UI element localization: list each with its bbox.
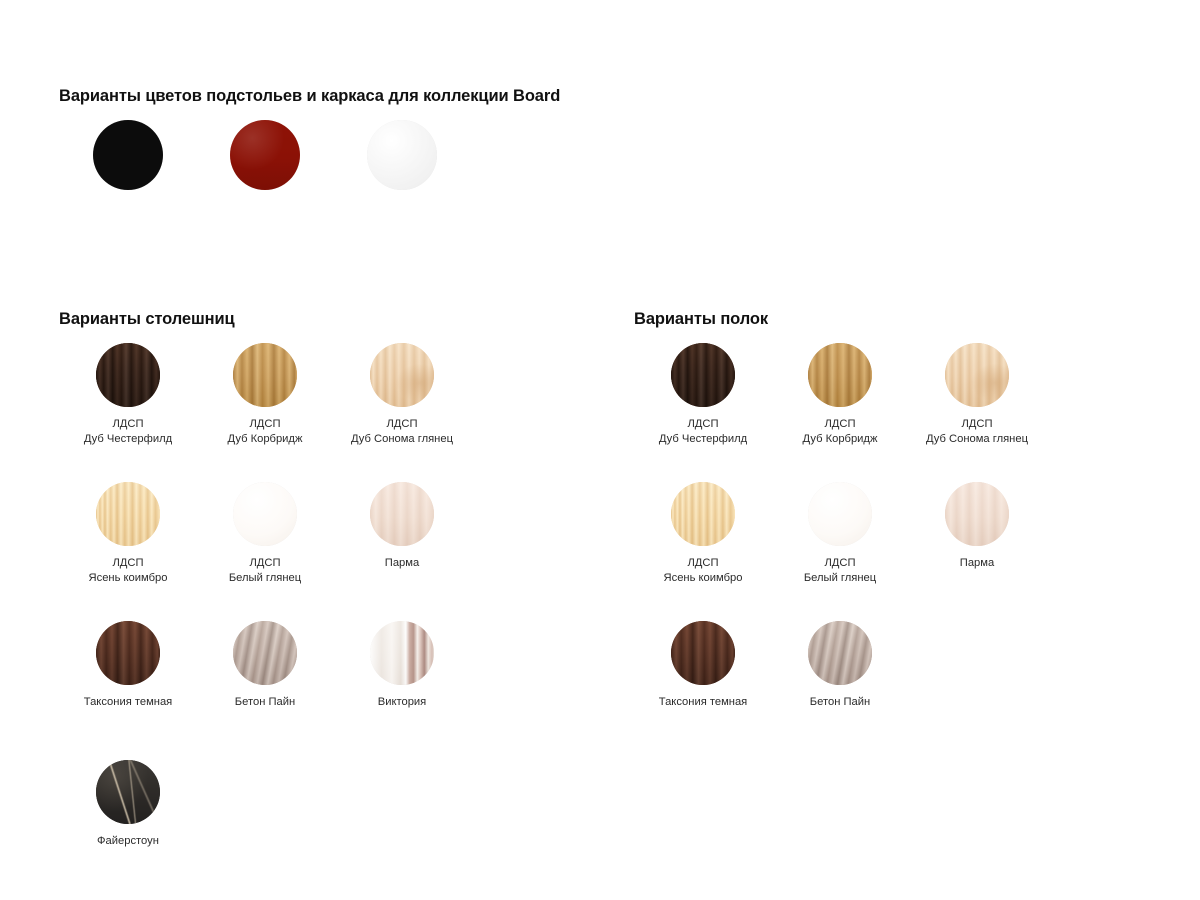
swatch-chip-wrapper: [196, 120, 334, 198]
swatch-chip-wrapper: [196, 343, 334, 415]
swatch-label: ЛДСПДуб Сонома глянец: [333, 417, 471, 447]
color-swatch-circle[interactable]: [671, 343, 735, 407]
color-options-page: Варианты цветов подстольев и каркаса для…: [0, 0, 1200, 900]
swatch-item[interactable]: Виктория: [333, 621, 471, 693]
swatch-label-line2: Дуб Сонома глянец: [333, 432, 471, 447]
swatch-label-line1: ЛДСП: [824, 557, 855, 569]
swatch-label-line2: Белый глянец: [196, 571, 334, 586]
swatch-texture: [808, 482, 872, 546]
swatch-texture: [96, 482, 160, 546]
swatch-item[interactable]: ЛДСПДуб Корбридж: [196, 343, 334, 415]
swatch-item[interactable]: ЛДСПБелый глянец: [771, 482, 909, 554]
swatch-label: Парма: [908, 556, 1046, 571]
swatch-item[interactable]: Бетон Пайн: [196, 621, 334, 693]
swatch-label-line1: Бетон Пайн: [810, 696, 870, 708]
swatch-chip-wrapper: [196, 621, 334, 693]
color-swatch-circle[interactable]: [96, 482, 160, 546]
swatch-label-line1: ЛДСП: [824, 418, 855, 430]
swatch-item[interactable]: ЛДСПБелый глянец: [196, 482, 334, 554]
color-swatch-circle[interactable]: [945, 482, 1009, 546]
swatch-chip-wrapper: [59, 621, 197, 693]
swatch-texture: [370, 482, 434, 546]
color-swatch-circle[interactable]: [671, 621, 735, 685]
swatch-chip-wrapper: [634, 343, 772, 415]
swatch-texture: [671, 621, 735, 685]
swatch-label-line2: Дуб Честерфилд: [634, 432, 772, 447]
swatch-chip-wrapper: [771, 343, 909, 415]
swatch-chip-wrapper: [333, 482, 471, 554]
swatch-label-line2: Дуб Корбридж: [771, 432, 909, 447]
swatch-label-line2: Дуб Честерфилд: [59, 432, 197, 447]
swatch-label: ЛДСПБелый глянец: [196, 556, 334, 586]
swatch-item[interactable]: ЛДСПДуб Сонома глянец: [908, 343, 1046, 415]
swatch-label: ЛДСПДуб Честерфилд: [634, 417, 772, 447]
swatch-item[interactable]: [196, 120, 334, 198]
swatch-chip-wrapper: [59, 120, 197, 198]
color-swatch-circle[interactable]: [370, 621, 434, 685]
swatch-label: ЛДСПДуб Честерфилд: [59, 417, 197, 447]
swatch-texture: [671, 482, 735, 546]
swatch-label-line2: Ясень коимбро: [59, 571, 197, 586]
swatch-label-line1: Парма: [385, 557, 419, 569]
color-swatch-circle[interactable]: [945, 343, 1009, 407]
swatch-label-line1: Бетон Пайн: [235, 696, 295, 708]
swatch-label: Таксония темная: [59, 695, 197, 710]
swatch-label: Бетон Пайн: [771, 695, 909, 710]
swatch-item[interactable]: ЛДСПДуб Честерфилд: [59, 343, 197, 415]
swatch-item[interactable]: [333, 120, 471, 198]
swatch-label-line1: ЛДСП: [112, 557, 143, 569]
swatch-chip-wrapper: [634, 482, 772, 554]
swatch-label-line1: Файерстоун: [97, 835, 159, 847]
swatch-texture: [233, 482, 297, 546]
swatch-label-line2: Дуб Сонома глянец: [908, 432, 1046, 447]
swatch-item[interactable]: Парма: [908, 482, 1046, 554]
swatch-texture: [945, 482, 1009, 546]
swatch-chip-wrapper: [333, 120, 471, 198]
swatch-chip-wrapper: [196, 482, 334, 554]
swatch-item[interactable]: ЛДСПЯсень коимбро: [634, 482, 772, 554]
color-swatch-circle[interactable]: [233, 621, 297, 685]
swatch-label-line1: ЛДСП: [386, 418, 417, 430]
swatch-label-line1: ЛДСП: [687, 418, 718, 430]
color-swatch-circle[interactable]: [671, 482, 735, 546]
swatch-texture: [367, 120, 437, 190]
swatch-item[interactable]: ЛДСПДуб Корбридж: [771, 343, 909, 415]
color-swatch-circle[interactable]: [233, 482, 297, 546]
swatch-item[interactable]: Таксония темная: [634, 621, 772, 693]
swatch-texture: [96, 343, 160, 407]
swatch-label: Виктория: [333, 695, 471, 710]
swatch-label: Парма: [333, 556, 471, 571]
color-swatch-circle[interactable]: [96, 343, 160, 407]
color-swatch-circle[interactable]: [233, 343, 297, 407]
color-swatch-circle[interactable]: [808, 482, 872, 546]
swatch-item[interactable]: [59, 120, 197, 198]
swatch-label: ЛДСПБелый глянец: [771, 556, 909, 586]
swatch-label-line1: Виктория: [378, 696, 426, 708]
swatch-texture: [945, 343, 1009, 407]
swatch-item[interactable]: Бетон Пайн: [771, 621, 909, 693]
swatch-texture: [93, 120, 163, 190]
swatch-texture: [230, 120, 300, 190]
swatch-texture: [671, 343, 735, 407]
swatch-texture: [96, 621, 160, 685]
swatch-chip-wrapper: [771, 482, 909, 554]
swatch-label-line1: ЛДСП: [249, 557, 280, 569]
swatch-texture: [808, 343, 872, 407]
swatch-item[interactable]: Парма: [333, 482, 471, 554]
swatch-label: ЛДСПДуб Корбридж: [771, 417, 909, 447]
color-swatch-circle[interactable]: [370, 482, 434, 546]
color-swatch-circle[interactable]: [93, 120, 163, 190]
swatch-chip-wrapper: [908, 343, 1046, 415]
swatch-label-line1: ЛДСП: [687, 557, 718, 569]
color-swatch-circle[interactable]: [367, 120, 437, 190]
color-swatch-circle[interactable]: [808, 621, 872, 685]
swatch-label: Бетон Пайн: [196, 695, 334, 710]
swatch-label-line1: Парма: [960, 557, 994, 569]
swatch-texture: [96, 760, 160, 824]
swatch-label: ЛДСПДуб Сонома глянец: [908, 417, 1046, 447]
swatch-texture: [370, 343, 434, 407]
color-swatch-circle[interactable]: [96, 760, 160, 824]
swatch-label-line2: Ясень коимбро: [634, 571, 772, 586]
swatch-texture: [233, 621, 297, 685]
swatch-label-line1: Таксония темная: [659, 696, 747, 708]
swatch-label: ЛДСПДуб Корбридж: [196, 417, 334, 447]
swatch-item[interactable]: Таксония темная: [59, 621, 197, 693]
page-title-frame-colors: Варианты цветов подстольев и каркаса для…: [59, 87, 560, 106]
swatch-label-line1: ЛДСП: [249, 418, 280, 430]
swatch-label: ЛДСПЯсень коимбро: [634, 556, 772, 586]
swatch-label-line1: ЛДСП: [961, 418, 992, 430]
swatch-chip-wrapper: [59, 482, 197, 554]
swatch-texture: [808, 621, 872, 685]
swatch-label-line1: ЛДСП: [112, 418, 143, 430]
swatch-item[interactable]: ЛДСПДуб Честерфилд: [634, 343, 772, 415]
swatch-item[interactable]: ЛДСПДуб Сонома глянец: [333, 343, 471, 415]
swatch-chip-wrapper: [59, 343, 197, 415]
swatch-chip-wrapper: [771, 621, 909, 693]
color-swatch-circle[interactable]: [370, 343, 434, 407]
color-swatch-circle[interactable]: [96, 621, 160, 685]
swatch-chip-wrapper: [59, 760, 197, 832]
section-title-shelves: Варианты полок: [634, 310, 768, 329]
swatch-chip-wrapper: [634, 621, 772, 693]
swatch-item[interactable]: Файерстоун: [59, 760, 197, 832]
swatch-chip-wrapper: [908, 482, 1046, 554]
swatch-label: ЛДСПЯсень коимбро: [59, 556, 197, 586]
color-swatch-circle[interactable]: [230, 120, 300, 190]
swatch-label-line2: Дуб Корбридж: [196, 432, 334, 447]
swatch-label-line2: Белый глянец: [771, 571, 909, 586]
swatch-texture: [233, 343, 297, 407]
color-swatch-circle[interactable]: [808, 343, 872, 407]
swatch-item[interactable]: ЛДСПЯсень коимбро: [59, 482, 197, 554]
swatch-chip-wrapper: [333, 343, 471, 415]
swatch-texture: [370, 621, 434, 685]
section-title-tabletops: Варианты столешниц: [59, 310, 235, 329]
swatch-label: Таксония темная: [634, 695, 772, 710]
swatch-label: Файерстоун: [59, 834, 197, 849]
swatch-chip-wrapper: [333, 621, 471, 693]
swatch-label-line1: Таксония темная: [84, 696, 172, 708]
